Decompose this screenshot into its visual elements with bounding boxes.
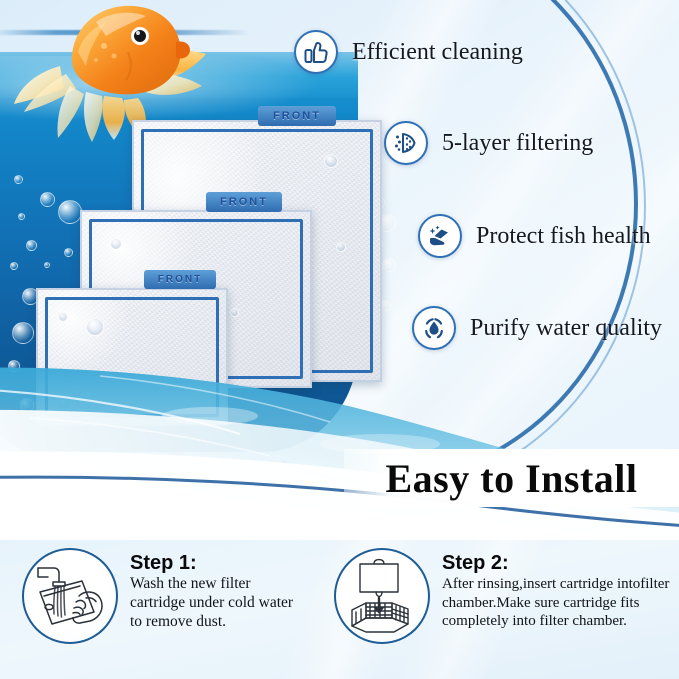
bubble <box>44 262 50 268</box>
water-droplet <box>324 154 338 168</box>
hand-sponge-sparkle-icon <box>418 214 462 258</box>
banner-title: Easy to Install <box>386 455 638 502</box>
bubble <box>26 240 37 251</box>
feature-label: Protect fish health <box>476 223 651 250</box>
filter-layers-icon <box>384 121 428 165</box>
insert-cartridge-into-chamber-icon <box>334 548 430 644</box>
feature-label: Purify water quality <box>470 315 662 342</box>
front-label-small: FRONT <box>144 270 216 289</box>
front-label-large: FRONT <box>258 106 336 126</box>
water-droplet <box>86 318 104 336</box>
step-2: Step 2: After rinsing,insert cartridge i… <box>334 548 672 644</box>
bubble <box>10 262 18 270</box>
bubble <box>64 248 73 257</box>
water-droplet <box>230 308 239 317</box>
feature-label: 5-layer filtering <box>442 130 593 157</box>
step-2-title: Step 2: <box>442 552 672 574</box>
installation-steps: Step 1: Wash the new filter cartridge un… <box>0 540 679 679</box>
bubble <box>58 200 82 224</box>
thumbs-up-icon <box>294 30 338 74</box>
feature-label: Efficient cleaning <box>352 39 523 66</box>
water-droplet <box>336 242 346 252</box>
infographic-page: FRONT FRONT FRONT <box>0 0 679 679</box>
step-1-text: Step 1: Wash the new filter cartridge un… <box>130 548 308 632</box>
easy-to-install-banner: Easy to Install <box>344 449 679 507</box>
water-droplet <box>110 238 122 250</box>
water-drop-recycle-icon <box>412 306 456 350</box>
feature-purify-water-quality[interactable]: Purify water quality <box>412 306 662 350</box>
step-1-title: Step 1: <box>130 552 308 574</box>
feature-5-layer-filtering[interactable]: 5-layer filtering <box>384 121 593 165</box>
step-2-body: After rinsing,insert cartridge intofilte… <box>442 575 672 630</box>
step-1-body: Wash the new filter cartridge under cold… <box>130 575 308 632</box>
feature-protect-fish-health[interactable]: Protect fish health <box>418 214 651 258</box>
bubble <box>14 175 23 184</box>
washing-cartridge-under-faucet-icon <box>22 548 118 644</box>
front-label-medium: FRONT <box>206 192 282 212</box>
bubble <box>18 213 25 220</box>
step-1: Step 1: Wash the new filter cartridge un… <box>22 548 308 644</box>
bubble <box>12 322 34 344</box>
step-2-text: Step 2: After rinsing,insert cartridge i… <box>442 548 672 630</box>
feature-efficient-cleaning[interactable]: Efficient cleaning <box>294 30 523 74</box>
water-droplet <box>58 312 68 322</box>
bubble <box>40 192 55 207</box>
